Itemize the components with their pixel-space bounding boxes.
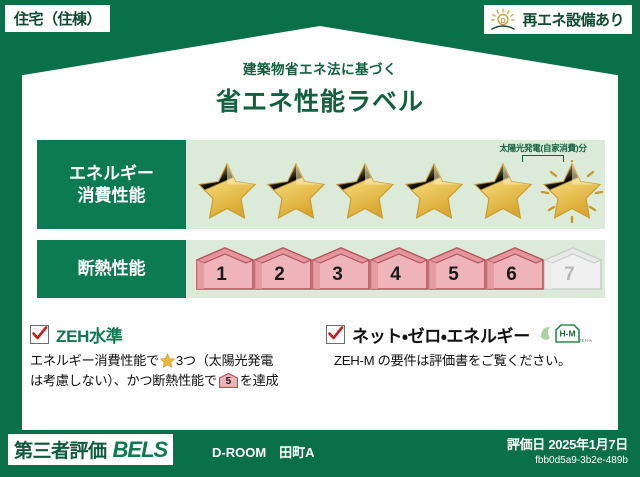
star-filled-icon: [263, 160, 329, 223]
solar-generation-note: 太陽光発電(自家消費)分: [483, 142, 603, 162]
evaluation-info: 評価日 2025年1月7日 fbb0d5a9-3b2e-489b: [507, 434, 628, 466]
bels-badge: 第三者評価 BELS: [8, 434, 173, 465]
inline-grade-value: 5: [219, 374, 238, 390]
insulation-grade-value: 2: [274, 265, 285, 292]
evaluation-id: fbb0d5a9-3b2e-489b: [507, 455, 628, 466]
title-block: 建築物省エネ法に基づく 省エネ性能ラベル: [0, 58, 640, 118]
evaluation-date-label: 評価日: [507, 437, 545, 452]
zeh-text-line2-after: を達成: [240, 373, 279, 388]
net-zero-energy-checkbox[interactable]: [326, 325, 345, 344]
energy-consumption-row: エネルギー 消費性能 太陽光発電(自家消費)分: [37, 140, 605, 229]
star-filled-icon: [470, 160, 536, 223]
zeh-standard-header: ZEH水準: [30, 322, 316, 346]
net-zero-energy-title: ネット・ゼロ・エネルギー: [352, 322, 530, 347]
bels-jp-label: 第三者評価: [14, 436, 107, 463]
zeh-standard-body: エネルギー消費性能で3つ（太陽光発電 は考慮しない）、かつ断熱性能で5を達成: [30, 351, 316, 392]
insulation-grade-badge-active: 2: [252, 246, 307, 292]
energy-label-line1: エネルギー: [69, 163, 154, 185]
bels-en-label: BELS: [113, 437, 168, 463]
evaluation-date: 評価日 2025年1月7日: [507, 434, 628, 453]
star-filled-icon: [332, 160, 398, 223]
insulation-grade-badge-active: 4: [368, 246, 423, 292]
star-filled-icon: [401, 160, 467, 223]
star-filled-icon: [194, 160, 260, 223]
net-zero-energy-header: ネット・ゼロ・エネルギー H-M ZEH-M: [326, 322, 612, 346]
label-title: 省エネ性能ラベル: [0, 82, 640, 118]
property-name: D-ROOM 田町A: [212, 442, 315, 461]
insulation-grade-value: 1: [216, 265, 227, 292]
check-icon: [326, 324, 345, 343]
net-zero-energy-body: ZEH-M の要件は評価書をご覧ください。: [326, 351, 612, 371]
insulation-grade-value: 5: [448, 265, 459, 292]
insulation-grade-badge-inactive: 7: [542, 246, 597, 292]
energy-performance-label: 住宅（住棟） D 再エネ設備あり 建築物省エネ法に基づ: [0, 0, 640, 477]
evaluation-date-value: 2025年1月7日: [548, 437, 628, 452]
label-subtitle: 建築物省エネ法に基づく: [0, 58, 640, 78]
category-tag-label: 住宅（住棟）: [14, 8, 101, 29]
zeh-m-logo-icon: H-M ZEH-M: [538, 321, 592, 347]
insulation-grade-value: 3: [332, 265, 343, 292]
insulation-grade-value: 4: [390, 265, 401, 292]
insulation-performance-row: 断熱性能 1 2 3 4 5 6: [37, 240, 605, 298]
solar-note-text: 太陽光発電(自家消費)分: [483, 142, 603, 154]
net-zero-energy-column: ネット・ゼロ・エネルギー H-M ZEH-M ZEH-M の要件は評価書をご覧く…: [326, 322, 612, 392]
category-tag: 住宅（住棟）: [5, 5, 110, 32]
zeh-m-logo-text: H-M: [559, 329, 575, 339]
inline-grade-badge: 5: [219, 373, 238, 388]
check-icon: [30, 324, 49, 343]
insulation-grade-badge-active: 1: [194, 246, 249, 292]
energy-consumption-body: 太陽光発電(自家消費)分: [186, 140, 605, 229]
insulation-grade-value: 7: [564, 265, 575, 292]
renewable-badge-label: 再エネ設備あり: [522, 9, 624, 30]
insulation-grade-badge-active: 3: [310, 246, 365, 292]
zeh-text-after-star: 3つ（太陽光発電: [176, 353, 273, 368]
zeh-section: ZEH水準 エネルギー消費性能で3つ（太陽光発電 は考慮しない）、かつ断熱性能で…: [30, 322, 612, 392]
renewable-equipment-badge: D 再エネ設備あり: [484, 5, 632, 34]
zeh-text-line2-before: は考慮しない）、かつ断熱性能で: [30, 373, 217, 388]
insulation-grade-badge-active: 5: [426, 246, 481, 292]
zeh-m-logo-sub: ZEH-M: [579, 338, 592, 343]
solar-sun-icon: D: [488, 8, 518, 32]
svg-text:D: D: [501, 18, 506, 25]
insulation-performance-body: 1 2 3 4 5 6 7: [186, 240, 605, 298]
zeh-standard-checkbox[interactable]: [30, 325, 49, 344]
zeh-standard-title: ZEH水準: [56, 322, 123, 347]
energy-consumption-label: エネルギー 消費性能: [37, 140, 186, 229]
star-dashed-icon: [539, 160, 605, 223]
insulation-label-text: 断熱性能: [78, 258, 146, 280]
insulation-grade-group: 1 2 3 4 5 6 7: [194, 244, 597, 294]
energy-label-line2: 消費性能: [78, 185, 146, 207]
star-rating-group: [194, 160, 601, 223]
footer-bar: 第三者評価 BELS D-ROOM 田町A 評価日 2025年1月7日 fbb0…: [0, 430, 640, 477]
inline-star-icon: [160, 353, 175, 368]
insulation-grade-value: 6: [506, 265, 517, 292]
insulation-performance-label: 断熱性能: [37, 240, 186, 298]
insulation-grade-badge-active: 6: [484, 246, 539, 292]
zeh-text-before-star: エネルギー消費性能で: [30, 353, 159, 368]
zeh-standard-column: ZEH水準 エネルギー消費性能で3つ（太陽光発電 は考慮しない）、かつ断熱性能で…: [30, 322, 316, 392]
